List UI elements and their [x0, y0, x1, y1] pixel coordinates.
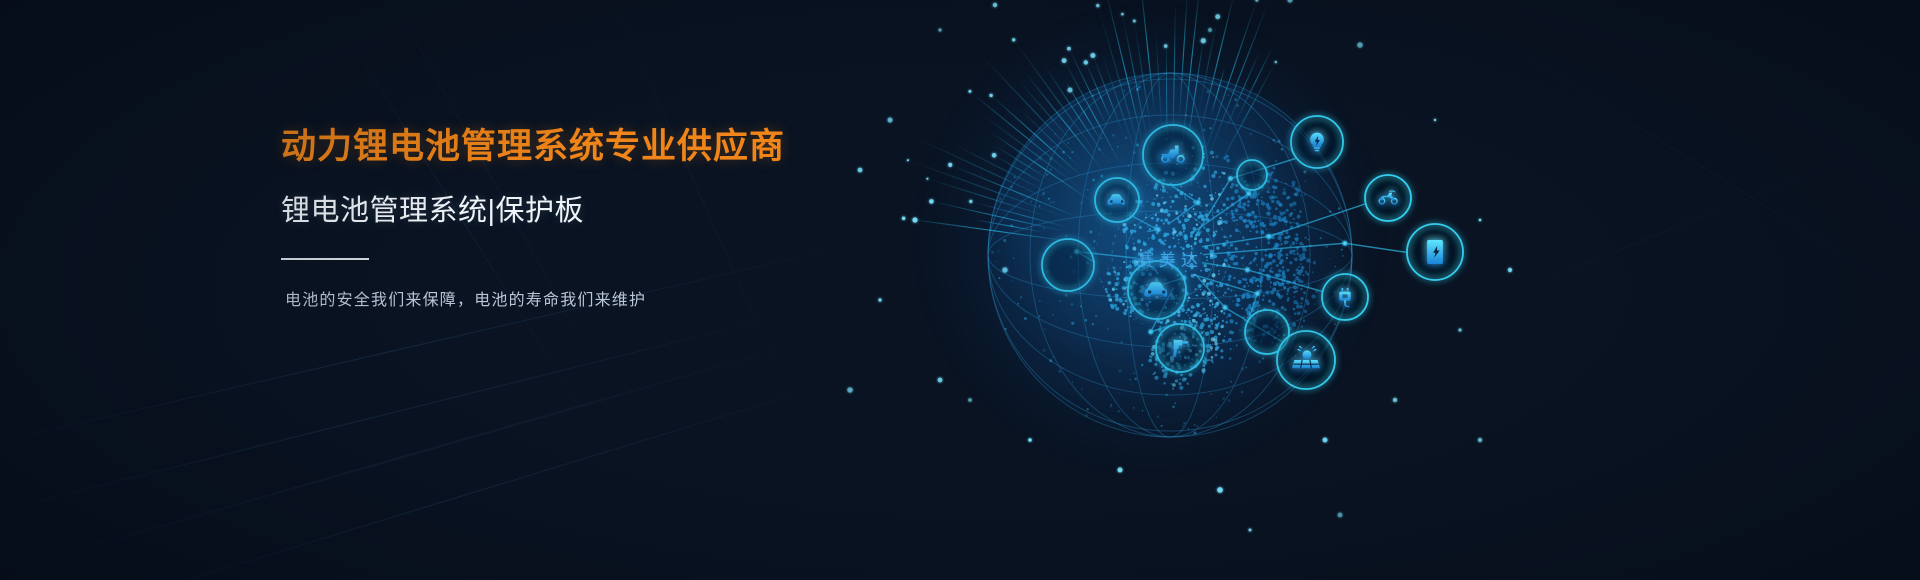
globe-node-empty-top: [1237, 160, 1267, 190]
globe-node-drill: [1156, 324, 1204, 372]
page-title: 动力锂电池管理系统专业供应商: [281, 128, 841, 167]
globe-node-empty-left: [1042, 239, 1094, 291]
globe-node-motorcycle: [1365, 175, 1411, 221]
node-ring: [1042, 239, 1094, 291]
hero-tagline: 电池的安全我们来保障，电池的寿命我们来维护: [285, 286, 841, 310]
globe-node-phone: [1407, 224, 1463, 280]
globe-graphic: 赛美达: [820, 0, 1520, 580]
node-ring: [1237, 160, 1267, 190]
hero-subtitle: 锂电池管理系统|保护板: [281, 195, 841, 228]
globe-svg: [820, 0, 1520, 580]
globe-node-car-small: [1095, 178, 1139, 222]
globe-node-car-big: [1128, 261, 1186, 319]
hero-copy: 动力锂电池管理系统专业供应商 锂电池管理系统|保护板 电池的安全我们来保障，电池…: [281, 128, 841, 310]
globe-node-bulb: [1291, 116, 1343, 168]
globe-node-scooter: [1143, 125, 1203, 185]
hero-banner: 动力锂电池管理系统专业供应商 锂电池管理系统|保护板 电池的安全我们来保障，电池…: [0, 0, 1920, 580]
globe-node-plug: [1322, 274, 1368, 320]
node-ring: [1156, 324, 1204, 372]
node-ring: [1365, 175, 1411, 221]
phone-battery-icon: [1427, 240, 1443, 264]
title-divider: [281, 258, 369, 260]
globe-node-solar: [1277, 331, 1335, 389]
